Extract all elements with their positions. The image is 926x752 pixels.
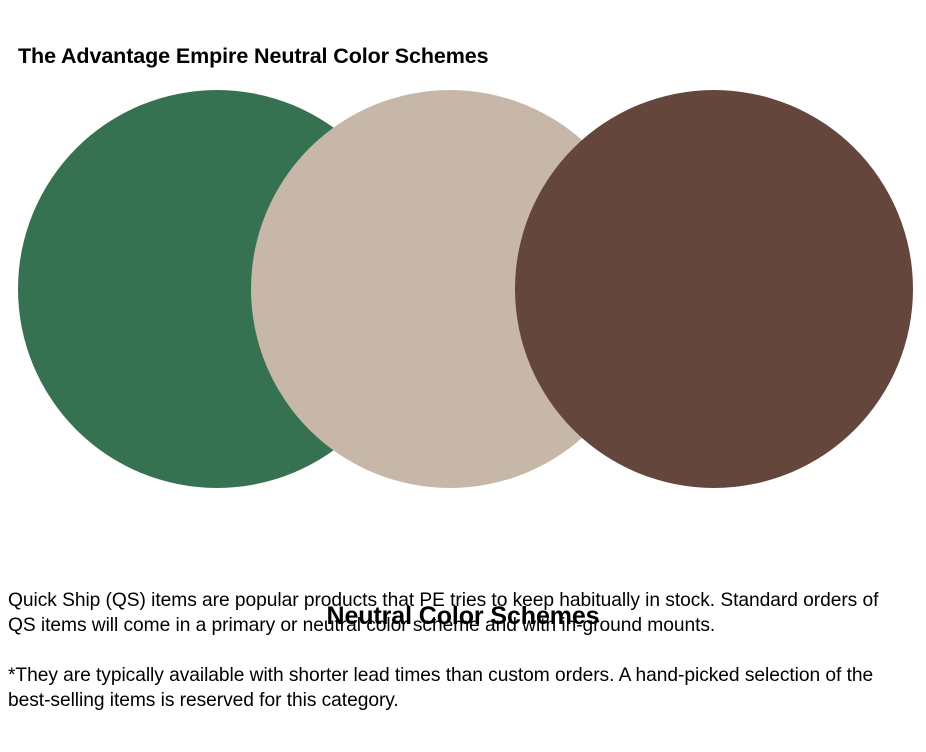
body-paragraph-1: Quick Ship (QS) items are popular produc… — [8, 588, 902, 638]
color-scheme-figure: Neutral Color Schemes — [0, 80, 926, 500]
body-copy: Quick Ship (QS) items are popular produc… — [8, 588, 902, 713]
page-title: The Advantage Empire Neutral Color Schem… — [18, 44, 489, 70]
body-paragraph-2: *They are typically available with short… — [8, 663, 902, 713]
color-swatch-brown — [515, 90, 913, 488]
page-root: The Advantage Empire Neutral Color Schem… — [0, 0, 926, 752]
color-swatch-group — [0, 80, 926, 500]
